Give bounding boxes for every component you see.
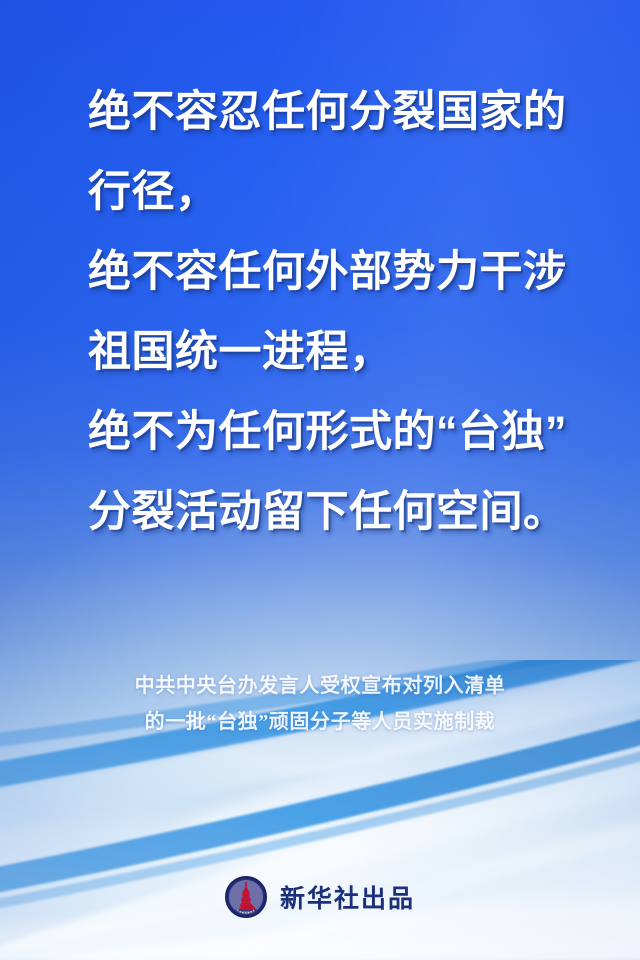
brand-lockup: 新华社出品 xyxy=(0,876,640,918)
subtitle: 中共中央台办发言人受权宣布对列入清单 的一批“台独”顽固分子等人员实施制裁 xyxy=(0,668,640,740)
subtitle-line-1: 中共中央台办发言人受权宣布对列入清单 xyxy=(0,668,640,704)
headline-line-3: 绝不容任何外部势力干涉 xyxy=(88,232,588,312)
headline: 绝不容忍任何分裂国家的 行径， 绝不容任何外部势力干涉 祖国统一进程， 绝不为任… xyxy=(88,72,588,552)
poster-root: 绝不容忍任何分裂国家的 行径， 绝不容任何外部势力干涉 祖国统一进程， 绝不为任… xyxy=(0,0,640,960)
headline-line-5: 绝不为任何形式的“台独” xyxy=(88,392,588,472)
xinhua-emblem-icon xyxy=(225,876,267,918)
headline-line-4: 祖国统一进程， xyxy=(88,312,588,392)
subtitle-line-2: 的一批“台独”顽固分子等人员实施制裁 xyxy=(0,704,640,740)
headline-line-6: 分裂活动留下任何空间。 xyxy=(88,472,588,552)
headline-line-2: 行径， xyxy=(88,152,588,232)
brand-label: 新华社出品 xyxy=(280,879,415,915)
headline-line-1: 绝不容忍任何分裂国家的 xyxy=(88,72,588,152)
